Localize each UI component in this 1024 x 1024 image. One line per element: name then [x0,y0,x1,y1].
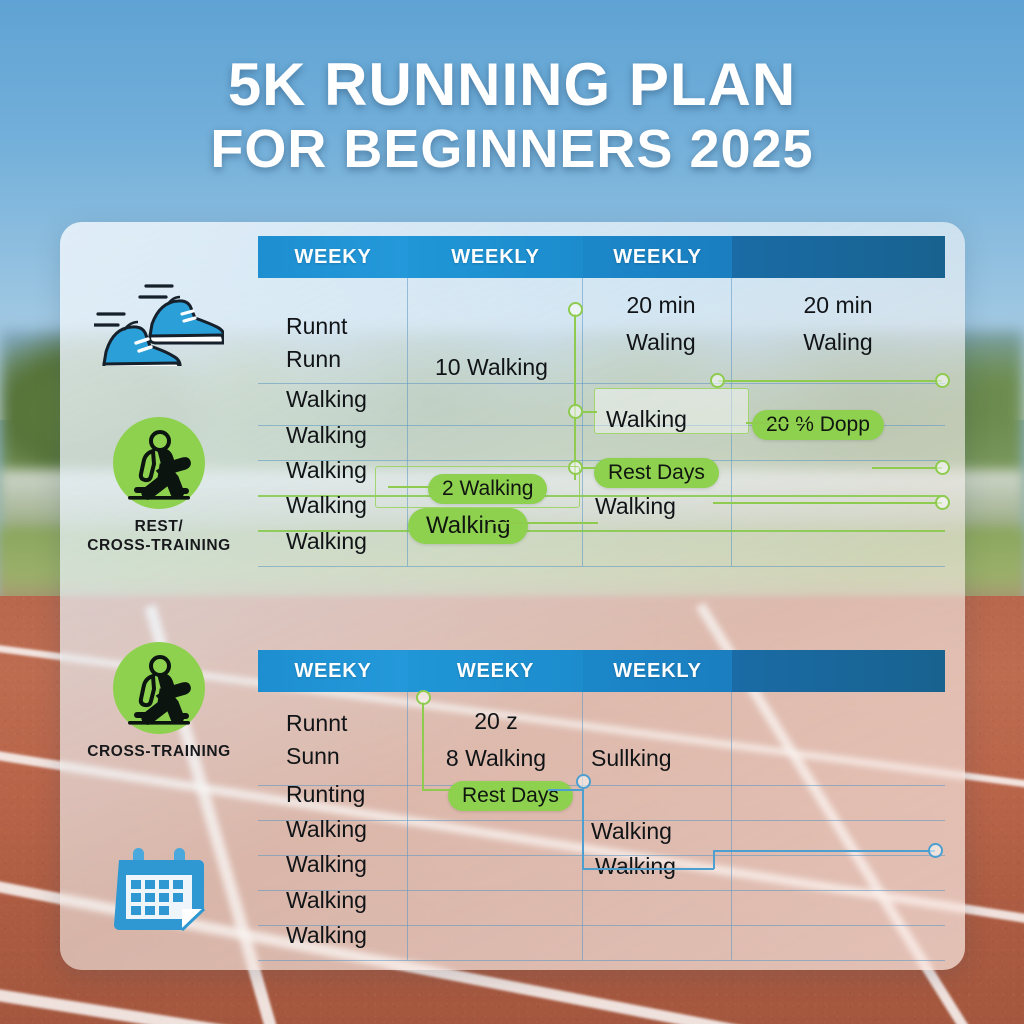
table-1-cell: Walking [286,386,367,413]
table-2-cell: Runting [286,781,365,808]
table-1-connector-node [568,404,583,419]
table-2-header-cell-4[interactable] [732,650,945,692]
table-1-cell: 20 min [738,292,938,319]
table-2-column-divider [731,692,732,960]
table-2-column-divider [407,692,408,960]
calendar-icon [111,842,207,934]
table-2-cell: Walking [286,887,367,914]
table-2-connector-horizontal [422,789,452,791]
table-1-cell: Walking [606,406,687,433]
page-title: 5K RUNNING PLAN FOR BEGINNERS 2025 [0,52,1024,180]
table-1-badge-walking[interactable]: Walking [408,508,528,544]
sidebar-label-line-2: CROSS-TRAINING [87,537,231,554]
table-1-header-cell-3[interactable]: WEEKLY [583,236,732,278]
table-1-connector-horizontal [583,411,597,413]
table-2-cell: Walking [286,851,367,878]
table-2-cell: 8 Walking [416,745,576,772]
sidebar-label-cross-training: CROSS-TRAINING [60,742,258,761]
table-2-connector-horizontal [713,850,935,852]
table-1-connector-horizontal [718,380,942,382]
table-2-connector-node [576,774,591,789]
table-1-header-cell-4[interactable] [732,236,945,278]
table-1-badge-rest-days[interactable]: Rest Days [594,458,719,488]
table-1-connector-node [935,373,950,388]
table-1-cell: Walking [286,492,367,519]
sidebar-item-rest-cross-training: REST/ CROSS-TRAINING [60,417,258,555]
table-1-cell: Walking [286,422,367,449]
table-1-cell: Waling [591,329,731,356]
table-1-row-divider [258,566,945,567]
table-2-cell: Walking [591,818,672,845]
table-1-connector-horizontal [713,502,942,504]
sidebar-item-calendar [60,842,258,934]
sidebar-item-cross-training: CROSS-TRAINING [60,642,258,761]
table-1-cell: 20 min [591,292,731,319]
table-1-connector-horizontal [872,467,942,469]
table-2-connector-node [416,690,431,705]
table-2-connector-vertical [422,702,424,790]
sidebar-label-line-1: REST/ [135,518,184,535]
table-2-cell: Sullking [591,745,672,772]
table-2-connector-horizontal [548,789,582,791]
table-2-badge-rest-days[interactable]: Rest Days [448,781,573,811]
table-2-connector-vertical [713,850,715,869]
table-1-cell: Walking [286,457,367,484]
table-1-cell: 10 Walking [435,354,548,381]
table-1-row-divider [258,383,945,384]
table-1-connector-horizontal [488,522,598,524]
table-2-connector-vertical [582,789,584,869]
table-2-connector-node [928,843,943,858]
runner-figure-icon [113,642,205,734]
runner-figure-icon [113,417,205,509]
table-1-cell: Runnt [286,313,347,340]
table-2-row-divider [258,960,945,961]
table-2-cell: Sunn [286,743,340,770]
table-1-cell: Walking [595,493,676,520]
table-2-header-cell-1[interactable]: WEEKY [258,650,408,692]
table-2-header-cell-3[interactable]: WEEKLY [583,650,732,692]
table-2-header-cell-2[interactable]: WEEKY [408,650,583,692]
table-2-cell: Walking [286,922,367,949]
table-1-connector-horizontal [583,467,597,469]
table-1-cell: Runn [286,346,341,373]
table-1-connector-vertical [574,314,576,480]
table-1-connector-node [710,373,725,388]
table-2-cell: Walking [595,853,676,880]
table-2-cell: Walking [286,816,367,843]
table-2-cell: 20 z [416,708,576,735]
table-1-connector-node [568,302,583,317]
sidebar: REST/ CROSS-TRAINING CROSS-TRAINING [60,222,258,970]
table-1-header-row: WEEKY WEEKLY WEEKLY [258,236,945,278]
table-1-highlight-box [375,466,580,508]
sidebar-label-rest-cross-training: REST/ CROSS-TRAINING [60,517,258,555]
schedule-table-1: WEEKY WEEKLY WEEKLY Runnt Runn Walking W… [258,236,945,566]
sidebar-item-shoes [60,280,258,366]
table-1-cell: Walking [286,528,367,555]
table-1-header-cell-1[interactable]: WEEKY [258,236,408,278]
title-line-2: FOR BEGINNERS 2025 [0,118,1024,180]
schedule-table-2: WEEKY WEEKY WEEKLY Runnt Sunn Runting Wa… [258,650,945,950]
table-1-cell: Waling [738,329,938,356]
running-shoes-icon [94,280,224,366]
table-2-connector-horizontal [582,868,714,870]
table-1-badge-dopp[interactable]: 20 % Dopp [752,410,884,440]
table-1-header-cell-2[interactable]: WEEKLY [408,236,583,278]
table-2-cell: Runnt [286,710,347,737]
table-2-header-row: WEEKY WEEKY WEEKLY [258,650,945,692]
table-1-connector-horizontal [746,422,806,424]
title-line-1: 5K RUNNING PLAN [0,52,1024,118]
table-1-connector-node [935,495,950,510]
table-1-connector-node [935,460,950,475]
